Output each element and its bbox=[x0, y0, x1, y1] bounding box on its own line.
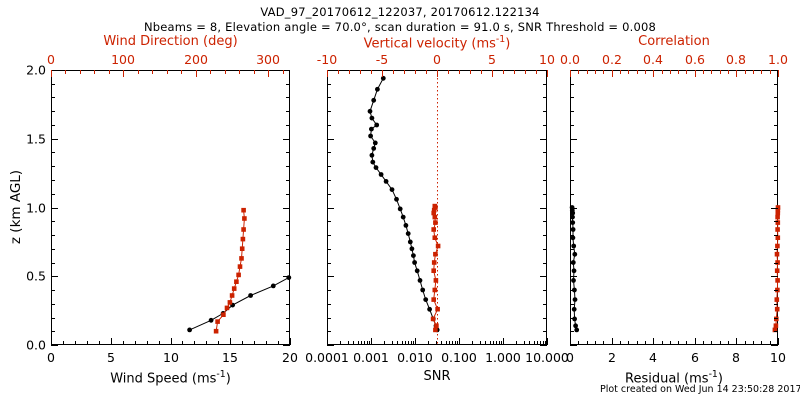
x-minor-tick bbox=[254, 341, 255, 345]
x-minor-tick bbox=[218, 341, 219, 345]
top-tick-mark bbox=[778, 70, 779, 77]
y-minor-tick bbox=[543, 263, 547, 264]
top-minor-tick bbox=[371, 70, 372, 74]
data-point-correlation bbox=[775, 268, 780, 273]
x-minor-tick bbox=[428, 341, 429, 345]
y-minor-tick bbox=[543, 125, 547, 126]
y-minor-tick bbox=[774, 318, 778, 319]
x-minor-tick bbox=[361, 341, 362, 345]
y-minor-tick bbox=[51, 84, 55, 85]
data-point-vertical-velocity bbox=[431, 227, 436, 232]
top-tick-mark bbox=[327, 70, 328, 77]
data-point-snr bbox=[404, 223, 409, 228]
top-minor-tick bbox=[587, 70, 588, 74]
y-tick-label-0: 0.0 bbox=[8, 338, 46, 353]
y-tick-mark bbox=[283, 70, 290, 71]
data-point-snr bbox=[406, 231, 411, 236]
x-minor-tick bbox=[340, 341, 341, 345]
data-point-vertical-velocity bbox=[433, 252, 438, 257]
x-minor-tick bbox=[595, 341, 596, 345]
top-minor-tick bbox=[514, 70, 515, 74]
top-minor-tick bbox=[481, 70, 482, 74]
y-minor-tick bbox=[286, 111, 290, 112]
top-tick-mark bbox=[123, 70, 124, 77]
data-point-wind-direction bbox=[225, 306, 230, 311]
y-minor-tick bbox=[543, 235, 547, 236]
top-tick-label-5: 1.0 bbox=[768, 52, 788, 67]
y-minor-tick bbox=[51, 318, 55, 319]
data-point-snr bbox=[408, 240, 413, 245]
y-tick-mark bbox=[283, 139, 290, 140]
x-minor-tick bbox=[662, 341, 663, 345]
x-minor-tick bbox=[490, 341, 491, 345]
x-minor-tick bbox=[408, 341, 409, 345]
data-point-snr bbox=[371, 146, 376, 151]
y-tick-mark bbox=[570, 70, 577, 71]
x-minor-tick bbox=[670, 341, 671, 345]
y-minor-tick bbox=[774, 166, 778, 167]
x-minor-tick bbox=[123, 341, 124, 345]
x-minor-tick bbox=[534, 341, 535, 345]
y-minor-tick bbox=[774, 263, 778, 264]
top-tick-label-2: 0 bbox=[433, 52, 441, 67]
data-point-snr bbox=[370, 160, 375, 165]
x-minor-tick bbox=[524, 341, 525, 345]
x-minor-tick bbox=[499, 341, 500, 345]
x-minor-tick bbox=[75, 341, 76, 345]
y-tick-mark bbox=[327, 70, 334, 71]
data-point-wind-speed bbox=[271, 284, 276, 289]
x-tick-mark bbox=[459, 338, 460, 345]
data-point-vertical-velocity bbox=[433, 215, 438, 220]
x-tick-label-0: 0.0001 bbox=[305, 350, 349, 365]
top-minor-tick bbox=[678, 70, 679, 74]
data-point-snr bbox=[384, 179, 389, 184]
x-tick-label-2: 4 bbox=[649, 350, 657, 365]
data-point-residual bbox=[572, 252, 577, 257]
top-tick-mark bbox=[695, 70, 696, 77]
data-point-residual bbox=[571, 244, 576, 249]
x-minor-tick bbox=[711, 341, 712, 345]
data-point-snr bbox=[374, 165, 379, 170]
y-minor-tick bbox=[286, 208, 290, 209]
y-tick-mark bbox=[771, 139, 778, 140]
y-minor-tick bbox=[774, 125, 778, 126]
x-minor-tick bbox=[753, 341, 754, 345]
x-tick-mark bbox=[695, 338, 696, 345]
x-minor-tick bbox=[392, 341, 393, 345]
top-tick-label-4: 10 bbox=[539, 52, 555, 67]
x-minor-tick bbox=[496, 341, 497, 345]
data-point-wind-direction bbox=[232, 286, 237, 291]
top-minor-tick bbox=[393, 70, 394, 74]
top-minor-tick bbox=[645, 70, 646, 74]
x-minor-tick bbox=[745, 341, 746, 345]
data-point-wind-direction bbox=[241, 227, 246, 232]
x-minor-tick bbox=[480, 341, 481, 345]
y-tick-mark bbox=[327, 139, 334, 140]
x-axis-label-p1: Wind Speed (ms-1) bbox=[51, 369, 290, 386]
y-minor-tick bbox=[543, 111, 547, 112]
x-minor-tick bbox=[367, 341, 368, 345]
x-tick-label-0: 0 bbox=[47, 350, 55, 365]
top-minor-tick bbox=[254, 70, 255, 74]
x-minor-tick bbox=[147, 341, 148, 345]
y-minor-tick bbox=[543, 97, 547, 98]
x-tick-mark bbox=[230, 338, 231, 345]
data-point-residual bbox=[574, 328, 579, 333]
y-minor-tick bbox=[774, 180, 778, 181]
y-minor-tick bbox=[286, 263, 290, 264]
x-minor-tick bbox=[182, 341, 183, 345]
top-minor-tick bbox=[225, 70, 226, 74]
y-minor-tick bbox=[327, 84, 331, 85]
x-minor-tick bbox=[493, 341, 494, 345]
y-minor-tick bbox=[543, 290, 547, 291]
y-minor-tick bbox=[570, 331, 574, 332]
data-point-snr bbox=[375, 87, 380, 92]
x-tick-label-4: 8 bbox=[732, 350, 740, 365]
data-point-vertical-velocity bbox=[433, 288, 438, 293]
x-minor-tick bbox=[206, 341, 207, 345]
top-minor-tick bbox=[662, 70, 663, 74]
top-minor-tick bbox=[349, 70, 350, 74]
top-tick-mark bbox=[736, 70, 737, 77]
x-minor-tick bbox=[369, 341, 370, 345]
data-point-correlation bbox=[775, 297, 780, 302]
y-minor-tick bbox=[774, 235, 778, 236]
top-tick-label-1: -5 bbox=[376, 52, 388, 67]
data-point-vertical-velocity bbox=[433, 328, 438, 333]
x-minor-tick bbox=[628, 341, 629, 345]
y-minor-tick bbox=[570, 152, 574, 153]
top-tick-mark bbox=[382, 70, 383, 77]
y-minor-tick bbox=[774, 249, 778, 250]
y-minor-tick bbox=[543, 194, 547, 195]
y-tick-label-3: 1.5 bbox=[8, 131, 46, 146]
top-tick-mark bbox=[492, 70, 493, 77]
y-tick-mark bbox=[51, 139, 58, 140]
y-minor-tick bbox=[327, 166, 331, 167]
y-minor-tick bbox=[570, 290, 574, 291]
y-minor-tick bbox=[774, 331, 778, 332]
y-minor-tick bbox=[774, 97, 778, 98]
y-minor-tick bbox=[570, 180, 574, 181]
data-point-snr bbox=[415, 268, 420, 273]
top-minor-tick bbox=[628, 70, 629, 74]
y-minor-tick bbox=[286, 290, 290, 291]
top-minor-tick bbox=[283, 70, 284, 74]
top-tick-label-0: -10 bbox=[317, 52, 337, 67]
data-point-snr bbox=[370, 153, 375, 158]
y-minor-tick bbox=[774, 221, 778, 222]
y-minor-tick bbox=[51, 235, 55, 236]
top-tick-label-2: 200 bbox=[184, 52, 208, 67]
y-minor-tick bbox=[51, 208, 55, 209]
y-minor-tick bbox=[51, 290, 55, 291]
y-minor-tick bbox=[543, 84, 547, 85]
y-minor-tick bbox=[327, 318, 331, 319]
y-tick-mark bbox=[570, 276, 577, 277]
x-minor-tick bbox=[441, 341, 442, 345]
y-minor-tick bbox=[774, 111, 778, 112]
data-point-vertical-velocity bbox=[432, 260, 437, 265]
y-minor-tick bbox=[286, 331, 290, 332]
x-minor-tick bbox=[242, 341, 243, 345]
x-tick-label-5: 10 bbox=[770, 350, 786, 365]
x-minor-tick bbox=[436, 341, 437, 345]
y-tick-mark bbox=[283, 276, 290, 277]
top-minor-tick bbox=[595, 70, 596, 74]
data-point-snr bbox=[423, 297, 428, 302]
y-minor-tick bbox=[543, 318, 547, 319]
y-tick-label-2: 1.0 bbox=[8, 200, 46, 215]
x-tick-mark bbox=[570, 338, 571, 345]
data-point-wind-direction bbox=[228, 300, 233, 305]
top-minor-tick bbox=[525, 70, 526, 74]
data-point-residual bbox=[573, 323, 578, 328]
x-minor-tick bbox=[678, 341, 679, 345]
x-minor-tick bbox=[545, 341, 546, 345]
y-tick-mark bbox=[540, 139, 547, 140]
data-point-residual bbox=[573, 297, 578, 302]
y-minor-tick bbox=[327, 235, 331, 236]
x-minor-tick bbox=[159, 341, 160, 345]
y-minor-tick bbox=[327, 194, 331, 195]
top-axis-label-p2: Vertical velocity (ms-1) bbox=[327, 34, 547, 51]
x-minor-tick bbox=[99, 341, 100, 345]
top-minor-tick bbox=[138, 70, 139, 74]
y-minor-tick bbox=[51, 125, 55, 126]
data-point-snr bbox=[412, 260, 417, 265]
top-axis-label-p3: Correlation bbox=[570, 34, 778, 49]
y-minor-tick bbox=[570, 318, 574, 319]
y-minor-tick bbox=[327, 111, 331, 112]
y-minor-tick bbox=[51, 166, 55, 167]
top-tick-label-3: 5 bbox=[488, 52, 496, 67]
data-point-correlation bbox=[775, 278, 780, 283]
data-point-wind-direction bbox=[214, 329, 219, 334]
x-minor-tick bbox=[529, 341, 530, 345]
data-point-wind-direction bbox=[230, 293, 235, 298]
data-point-wind-speed bbox=[187, 328, 192, 333]
data-point-residual bbox=[571, 278, 576, 283]
data-point-snr bbox=[369, 127, 374, 132]
x-tick-mark bbox=[547, 338, 548, 345]
data-point-wind-direction bbox=[221, 312, 226, 317]
top-tick-label-0: 0.0 bbox=[560, 52, 580, 67]
y-tick-mark bbox=[570, 139, 577, 140]
y-minor-tick bbox=[286, 235, 290, 236]
x-tick-label-0: 0 bbox=[566, 350, 574, 365]
top-minor-tick bbox=[404, 70, 405, 74]
top-minor-tick bbox=[181, 70, 182, 74]
top-tick-mark bbox=[437, 70, 438, 77]
top-axis-label-p1: Wind Direction (deg) bbox=[51, 34, 290, 49]
y-minor-tick bbox=[286, 249, 290, 250]
top-minor-tick bbox=[503, 70, 504, 74]
top-tick-mark bbox=[653, 70, 654, 77]
y-minor-tick bbox=[51, 194, 55, 195]
y-tick-mark bbox=[771, 276, 778, 277]
x-tick-label-2: 0.010 bbox=[397, 350, 433, 365]
data-point-wind-direction bbox=[242, 216, 247, 221]
x-minor-tick bbox=[194, 341, 195, 345]
x-tick-mark bbox=[612, 338, 613, 345]
data-point-residual bbox=[572, 268, 577, 273]
x-minor-tick bbox=[348, 341, 349, 345]
top-minor-tick bbox=[761, 70, 762, 74]
x-minor-tick bbox=[587, 341, 588, 345]
x-minor-tick bbox=[266, 341, 267, 345]
x-tick-label-1: 5 bbox=[107, 350, 115, 365]
top-minor-tick bbox=[703, 70, 704, 74]
data-point-snr bbox=[427, 307, 432, 312]
top-tick-mark bbox=[547, 70, 548, 77]
x-minor-tick bbox=[578, 341, 579, 345]
top-tick-mark bbox=[268, 70, 269, 77]
y-minor-tick bbox=[286, 318, 290, 319]
y-minor-tick bbox=[51, 221, 55, 222]
y-tick-label-4: 2.0 bbox=[8, 63, 46, 78]
y-minor-tick bbox=[570, 111, 574, 112]
data-point-snr bbox=[370, 116, 375, 121]
y-minor-tick bbox=[327, 331, 331, 332]
data-point-wind-direction bbox=[241, 237, 246, 242]
top-tick-label-1: 100 bbox=[111, 52, 135, 67]
x-minor-tick bbox=[353, 341, 354, 345]
top-minor-tick bbox=[536, 70, 537, 74]
data-point-vertical-velocity bbox=[434, 278, 439, 283]
y-minor-tick bbox=[543, 304, 547, 305]
y-minor-tick bbox=[774, 208, 778, 209]
y-minor-tick bbox=[570, 304, 574, 305]
top-tick-label-3: 300 bbox=[256, 52, 280, 67]
x-tick-label-4: 1.000 bbox=[485, 350, 521, 365]
data-point-wind-direction bbox=[239, 256, 244, 261]
data-point-snr bbox=[373, 141, 378, 146]
top-minor-tick bbox=[426, 70, 427, 74]
data-point-snr bbox=[368, 134, 373, 139]
y-minor-tick bbox=[570, 125, 574, 126]
y-minor-tick bbox=[774, 152, 778, 153]
plot-timestamp-footer: Plot created on Wed Jun 14 23:50:28 2017 bbox=[600, 384, 800, 395]
vad-profile-plot: VAD_97_20170612_122037, 20170612.122134 … bbox=[0, 0, 800, 400]
x-tick-label-1: 2 bbox=[608, 350, 616, 365]
y-minor-tick bbox=[543, 180, 547, 181]
series-line-wind-direction bbox=[216, 210, 244, 331]
x-minor-tick bbox=[135, 341, 136, 345]
y-minor-tick bbox=[327, 290, 331, 291]
x-tick-label-3: 6 bbox=[691, 350, 699, 365]
x-tick-mark bbox=[327, 338, 328, 345]
y-minor-tick bbox=[51, 249, 55, 250]
top-minor-tick bbox=[448, 70, 449, 74]
data-point-residual bbox=[570, 215, 575, 220]
data-point-vertical-velocity bbox=[431, 317, 436, 322]
top-minor-tick bbox=[65, 70, 66, 74]
x-minor-tick bbox=[501, 341, 502, 345]
x-minor-tick bbox=[720, 341, 721, 345]
x-axis-label-p2: SNR bbox=[327, 369, 547, 384]
data-point-snr bbox=[410, 246, 415, 251]
x-minor-tick bbox=[761, 341, 762, 345]
y-tick-mark bbox=[283, 345, 290, 346]
y-minor-tick bbox=[570, 97, 574, 98]
y-minor-tick bbox=[51, 152, 55, 153]
data-point-snr bbox=[368, 109, 373, 114]
y-minor-tick bbox=[51, 304, 55, 305]
top-minor-tick bbox=[637, 70, 638, 74]
x-minor-tick bbox=[413, 341, 414, 345]
x-minor-tick bbox=[455, 341, 456, 345]
x-tick-label-4: 20 bbox=[282, 350, 298, 365]
data-point-snr bbox=[394, 197, 399, 202]
y-minor-tick bbox=[543, 166, 547, 167]
x-tick-mark bbox=[51, 338, 52, 345]
top-minor-tick bbox=[711, 70, 712, 74]
y-minor-tick bbox=[327, 249, 331, 250]
top-minor-tick bbox=[239, 70, 240, 74]
y-minor-tick bbox=[570, 263, 574, 264]
y-minor-tick bbox=[774, 84, 778, 85]
top-minor-tick bbox=[745, 70, 746, 74]
x-minor-tick bbox=[620, 341, 621, 345]
y-minor-tick bbox=[51, 180, 55, 181]
x-minor-tick bbox=[397, 341, 398, 345]
top-minor-tick bbox=[578, 70, 579, 74]
y-tick-mark bbox=[771, 345, 778, 346]
data-point-vertical-velocity bbox=[433, 220, 438, 225]
x-minor-tick bbox=[411, 341, 412, 345]
x-minor-tick bbox=[446, 341, 447, 345]
y-tick-label-1: 0.5 bbox=[8, 269, 46, 284]
top-minor-tick bbox=[620, 70, 621, 74]
data-point-correlation bbox=[775, 215, 780, 220]
x-minor-tick bbox=[402, 341, 403, 345]
data-point-vertical-velocity bbox=[434, 323, 439, 328]
x-minor-tick bbox=[728, 341, 729, 345]
top-tick-mark bbox=[612, 70, 613, 77]
y-minor-tick bbox=[570, 194, 574, 195]
top-minor-tick bbox=[94, 70, 95, 74]
x-tick-mark bbox=[778, 338, 779, 345]
y-minor-tick bbox=[570, 208, 574, 209]
top-minor-tick bbox=[770, 70, 771, 74]
data-point-snr bbox=[420, 288, 425, 293]
data-point-wind-direction bbox=[240, 246, 245, 251]
data-point-snr bbox=[398, 207, 403, 212]
x-tick-label-1: 0.001 bbox=[353, 350, 389, 365]
y-minor-tick bbox=[774, 290, 778, 291]
y-minor-tick bbox=[570, 84, 574, 85]
y-minor-tick bbox=[543, 221, 547, 222]
x-minor-tick bbox=[358, 341, 359, 345]
x-minor-tick bbox=[645, 341, 646, 345]
x-minor-tick bbox=[449, 341, 450, 345]
data-point-correlation bbox=[775, 252, 780, 257]
data-point-snr bbox=[374, 123, 379, 128]
top-minor-tick bbox=[728, 70, 729, 74]
y-minor-tick bbox=[327, 152, 331, 153]
top-minor-tick bbox=[338, 70, 339, 74]
y-minor-tick bbox=[543, 152, 547, 153]
series-line-snr bbox=[370, 78, 437, 330]
top-minor-tick bbox=[720, 70, 721, 74]
data-point-vertical-velocity bbox=[431, 268, 436, 273]
y-tick-mark bbox=[327, 276, 334, 277]
y-tick-mark bbox=[540, 345, 547, 346]
